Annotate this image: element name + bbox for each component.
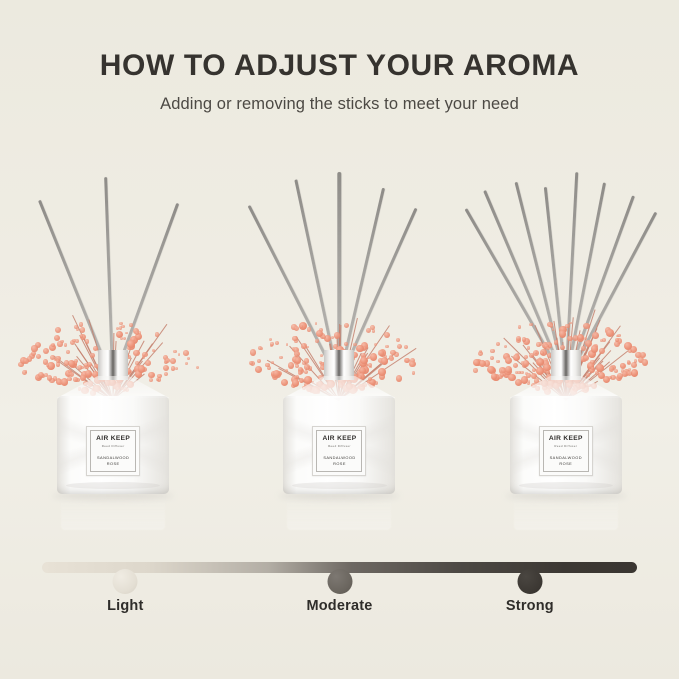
reed-sticks-strong	[459, 150, 673, 382]
slider-label-strong: Strong	[506, 598, 554, 614]
bottle-reflection	[287, 496, 391, 530]
header: HOW TO ADJUST YOUR AROMA Adding or remov…	[0, 0, 679, 114]
diffuser-row: AIR KEEP Reed Diffuser SANDALWOODROSE	[0, 150, 679, 530]
diffuser-stage: AIR KEEP Reed Diffuser SANDALWOODROSE	[232, 150, 446, 530]
slider-label-moderate: Moderate	[306, 598, 372, 614]
bottle-shoulder	[283, 376, 395, 398]
diffuser-stage: AIR KEEP Reed Diffuser SANDALWOODROSE	[6, 150, 220, 530]
scent-name: SANDALWOODROSE	[323, 455, 355, 466]
diffuser-bottle: AIR KEEP Reed Diffuser SANDALWOODROSE	[283, 376, 395, 494]
slider-track[interactable]	[42, 562, 637, 573]
slider-knob-light[interactable]	[113, 569, 138, 594]
page-title: HOW TO ADJUST YOUR AROMA	[0, 0, 679, 82]
bottle-label-frame: AIR KEEP Reed Diffuser SANDALWOODROSE	[316, 430, 362, 472]
diffuser-stage: AIR KEEP Reed Diffuser SANDALWOODROSE	[459, 150, 673, 530]
bottle-label-frame: AIR KEEP Reed Diffuser SANDALWOODROSE	[90, 430, 136, 472]
bottle-cap-collar	[98, 350, 128, 380]
diffuser-bottle: AIR KEEP Reed Diffuser SANDALWOODROSE	[510, 376, 622, 494]
reed-sticks-moderate	[232, 150, 446, 382]
bottle-label: AIR KEEP Reed Diffuser SANDALWOODROSE	[312, 426, 366, 476]
bottle-shoulder	[57, 376, 169, 398]
brand-tagline: Reed Diffuser	[102, 445, 125, 448]
bottle-cap-collar	[324, 350, 354, 380]
page-subtitle: Adding or removing the sticks to meet yo…	[0, 82, 679, 114]
diffuser-moderate: AIR KEEP Reed Diffuser SANDALWOODROSE	[232, 150, 446, 530]
bottle-label-frame: AIR KEEP Reed Diffuser SANDALWOODROSE	[543, 430, 589, 472]
slider-label-light: Light	[107, 598, 143, 614]
brand-tagline: Reed Diffuser	[328, 445, 351, 448]
diffuser-light: AIR KEEP Reed Diffuser SANDALWOODROSE	[6, 150, 220, 530]
slider-knob-moderate[interactable]	[327, 569, 352, 594]
bottle-reflection	[61, 496, 165, 530]
intensity-slider[interactable]: Light Moderate Strong	[0, 548, 679, 648]
bottle-shoulder	[510, 376, 622, 398]
brand-name: AIR KEEP	[96, 436, 130, 443]
reed-sticks-light	[6, 150, 220, 382]
bottle-label: AIR KEEP Reed Diffuser SANDALWOODROSE	[539, 426, 593, 476]
scent-name: SANDALWOODROSE	[97, 455, 129, 466]
brand-tagline: Reed Diffuser	[554, 445, 577, 448]
aroma-adjustment-infographic: HOW TO ADJUST YOUR AROMA Adding or remov…	[0, 0, 679, 679]
brand-name: AIR KEEP	[323, 436, 357, 443]
bottle-cap-collar	[551, 350, 581, 380]
diffuser-bottle: AIR KEEP Reed Diffuser SANDALWOODROSE	[57, 376, 169, 494]
slider-knob-strong[interactable]	[517, 569, 542, 594]
brand-name: AIR KEEP	[549, 436, 583, 443]
scent-name: SANDALWOODROSE	[550, 455, 582, 466]
bottle-reflection	[514, 496, 618, 530]
bottle-label: AIR KEEP Reed Diffuser SANDALWOODROSE	[86, 426, 140, 476]
slider-tick-labels: Light Moderate Strong	[0, 598, 679, 622]
diffuser-strong: AIR KEEP Reed Diffuser SANDALWOODROSE	[459, 150, 673, 530]
